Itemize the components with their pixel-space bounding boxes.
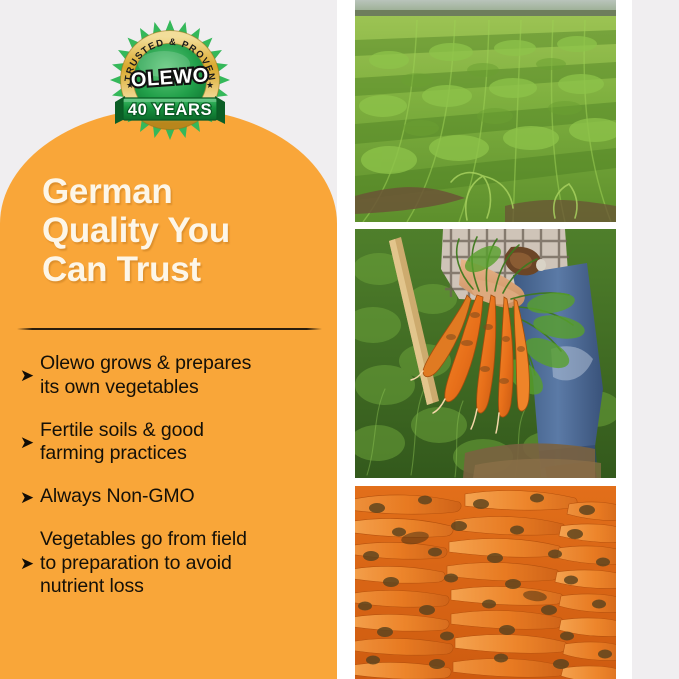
arrow-bullet-icon: ➤ — [14, 434, 40, 451]
photo-farmer-holding-carrots — [355, 229, 616, 478]
carrot-pile-illustration — [355, 486, 616, 679]
farmer-carrots-illustration — [355, 229, 616, 478]
list-item-label: Vegetables go from field to preparation … — [40, 528, 336, 599]
page-title: German Quality You Can Trust — [42, 172, 332, 290]
photo-carrot-field — [355, 0, 616, 222]
infographic-canvas: German Quality You Can Trust ➤ Olewo gro… — [0, 0, 679, 679]
olewo-40-years-seal-icon: TRUSTED & PROVEN ★ ★ OLEWO 40 YEARS — [107, 18, 233, 140]
carrot-field-illustration — [355, 0, 616, 222]
list-item-label: Olewo grows & prepares its own vegetable… — [40, 352, 336, 400]
badge-ribbon-text: 40 YEARS — [128, 101, 212, 119]
list-item: ➤ Fertile soils & good farming practices — [14, 419, 336, 467]
photo-column — [355, 0, 616, 679]
arrow-bullet-icon: ➤ — [14, 367, 40, 384]
headline-divider — [17, 328, 322, 330]
right-white-gutter — [616, 0, 632, 679]
trust-badge: TRUSTED & PROVEN ★ ★ OLEWO 40 YEARS — [107, 18, 233, 140]
list-item-label: Always Non-GMO — [40, 485, 336, 509]
arrow-bullet-icon: ➤ — [14, 489, 40, 506]
list-item-label: Fertile soils & good farming practices — [40, 419, 336, 467]
arrow-bullet-icon: ➤ — [14, 555, 40, 572]
list-item: ➤ Olewo grows & prepares its own vegetab… — [14, 352, 336, 400]
headline-line-3: Can Trust — [42, 250, 332, 289]
list-item: ➤ Always Non-GMO — [14, 485, 336, 509]
photo-carrot-pile — [355, 486, 616, 679]
list-item: ➤ Vegetables go from field to preparatio… — [14, 528, 336, 599]
headline-line-2: Quality You — [42, 211, 332, 250]
benefits-list: ➤ Olewo grows & prepares its own vegetab… — [14, 352, 336, 618]
headline-line-1: German — [42, 172, 332, 211]
